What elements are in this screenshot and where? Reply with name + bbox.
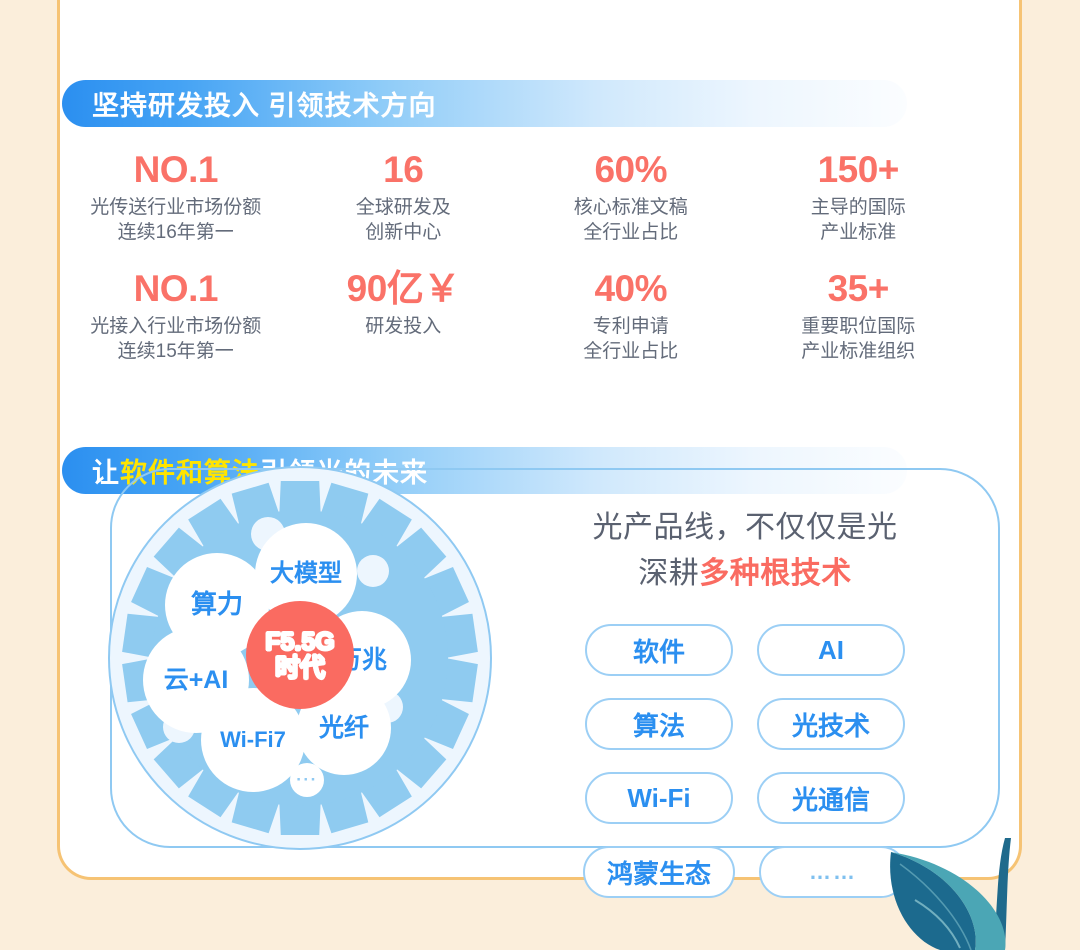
gear-center-line2: 时代 (265, 655, 334, 681)
tech-pill-software[interactable]: 软件 (585, 624, 733, 676)
tech-pill-label: 光通信 (792, 780, 870, 817)
tech-pill-label: 鸿蒙生态 (607, 854, 711, 891)
section-banner-rd: 坚持研发投入 引领技术方向 (62, 80, 907, 127)
stat-value: 40% (517, 267, 745, 311)
stat-description: 光传送行业市场份额 连续16年第一 (62, 195, 290, 246)
stat-value: 60% (517, 148, 745, 192)
stat-item: NO.1 光传送行业市场份额 连续16年第一 (62, 148, 290, 245)
tech-pill-algorithm[interactable]: 算法 (585, 698, 733, 750)
tech-pill-wifi[interactable]: Wi-Fi (585, 772, 733, 824)
stat-value: 150+ (745, 148, 973, 192)
stat-value: 16 (290, 148, 518, 192)
tech-pill-label: 光技术 (792, 706, 870, 743)
stats-grid: NO.1 光传送行业市场份额 连续16年第一 16 全球研发及 创新中心 60%… (62, 148, 972, 364)
stat-item: NO.1 光接入行业市场份额 连续15年第一 (62, 267, 290, 364)
stat-description: 全球研发及 创新中心 (290, 195, 518, 246)
gear-bubble-label: 大模型 (270, 561, 342, 586)
stat-value: 90亿￥ (290, 267, 518, 311)
lead-line-1: 光产品线，不仅仅是光 (593, 511, 898, 544)
stat-item: 90亿￥ 研发投入 (290, 267, 518, 364)
gear-center-line1: F5.5G (265, 628, 334, 656)
tech-pill-optical-comm[interactable]: 光通信 (757, 772, 905, 824)
tech-pill-ai[interactable]: AI (757, 624, 905, 676)
stat-item: 60% 核心标准文稿 全行业占比 (517, 148, 745, 245)
stat-description: 专利申请 全行业占比 (517, 314, 745, 365)
stat-item: 16 全球研发及 创新中心 (290, 148, 518, 245)
leaf-decoration (855, 830, 1080, 950)
stat-value: NO.1 (62, 267, 290, 311)
lead-text: 光产品线，不仅仅是光 深耕多种根技术 (500, 505, 990, 596)
gear-diagram: 算力 大模型 万兆 云+AI Wi-Fi7 光纤 ··· F5.5G 时代 (105, 463, 495, 853)
stat-description: 核心标准文稿 全行业占比 (517, 195, 745, 246)
stat-item: 150+ 主导的国际 产业标准 (745, 148, 973, 245)
tech-pill-harmony-eco[interactable]: 鸿蒙生态 (583, 846, 735, 898)
gear-bubble-more: ··· (290, 763, 324, 797)
stat-item: 40% 专利申请 全行业占比 (517, 267, 745, 364)
gear-center-text: F5.5G 时代 (265, 629, 334, 682)
gear-dot (357, 555, 389, 587)
banner-title-rd: 坚持研发投入 引领技术方向 (92, 84, 437, 123)
stat-value: 35+ (745, 267, 973, 311)
gear-bubble-label: ··· (296, 771, 317, 788)
tech-pill-label: …… (809, 859, 857, 885)
gear-bubble-label: 算力 (191, 591, 243, 618)
tech-pill-optical-tech[interactable]: 光技术 (757, 698, 905, 750)
stat-description: 光接入行业市场份额 连续15年第一 (62, 314, 290, 365)
tech-pill-label: Wi-Fi (627, 783, 690, 814)
lead-line-2-highlight: 多种根技术 (699, 557, 852, 590)
gear-bubble-label: 光纤 (319, 715, 369, 741)
stat-description: 研发投入 (290, 314, 518, 339)
lead-line-2: 深耕多种根技术 (500, 551, 990, 597)
stat-item: 35+ 重要职位国际 产业标准组织 (745, 267, 973, 364)
tech-pill-label: 算法 (633, 706, 685, 743)
lead-line-2-prefix: 深耕 (638, 557, 699, 590)
gear-bubble-label: Wi-Fi7 (220, 728, 286, 751)
stat-description: 主导的国际 产业标准 (745, 195, 973, 246)
tech-pill-label: 软件 (633, 632, 685, 669)
gear-bubble-label: 云+AI (164, 667, 229, 693)
stat-value: NO.1 (62, 148, 290, 192)
tech-pill-label: AI (818, 635, 844, 666)
stat-description: 重要职位国际 产业标准组织 (745, 314, 973, 365)
leaf-icon (855, 830, 1080, 950)
gear-center-f55g: F5.5G 时代 (246, 601, 354, 709)
